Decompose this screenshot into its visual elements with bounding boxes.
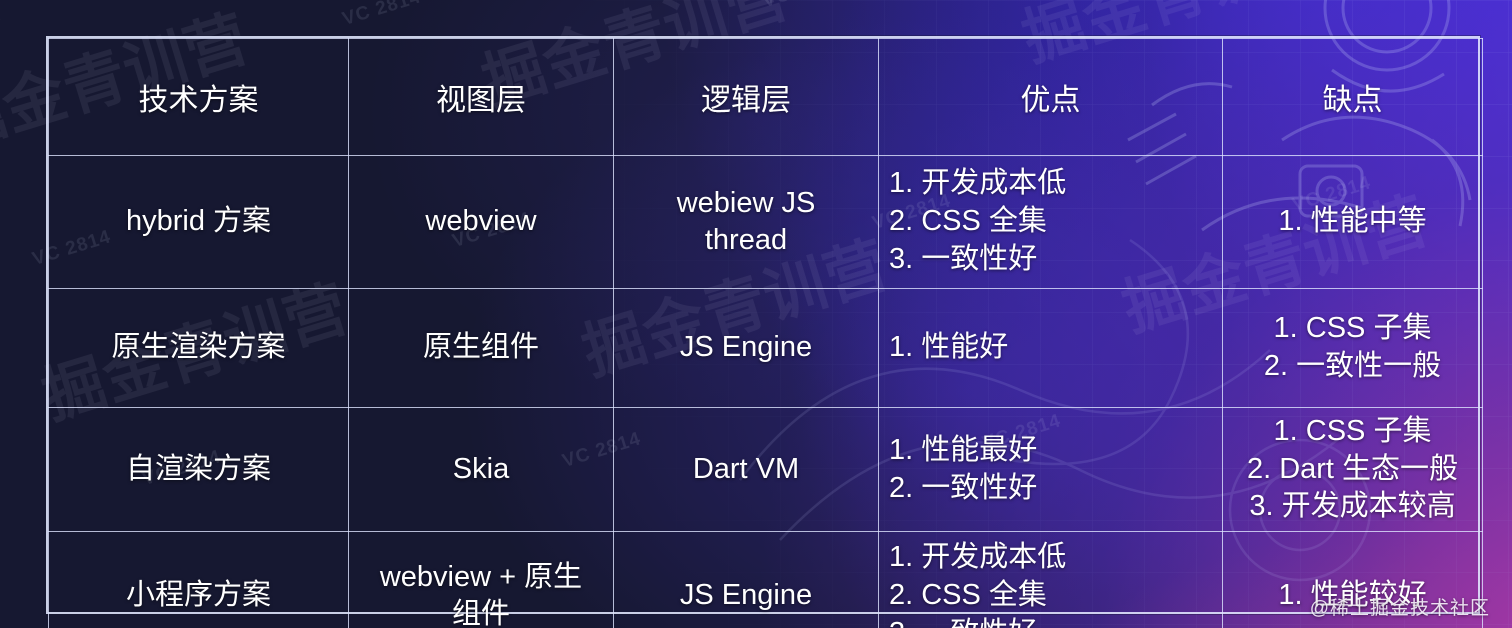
cons-item: 3. 开发成本较高 [1233, 488, 1472, 526]
cell-cons: 1. 性能中等 [1223, 156, 1483, 289]
cell-logic-layer: webiew JS thread [614, 156, 879, 289]
cell-line: 组件 [359, 596, 603, 628]
pros-item: 1. 开发成本低 [889, 165, 1212, 203]
cell-scheme: 自渲染方案 [49, 408, 349, 532]
cell-scheme: 原生渲染方案 [49, 289, 349, 408]
cons-item: 1. CSS 子集 [1233, 413, 1472, 451]
cons-item: 2. 一致性一般 [1233, 348, 1472, 386]
column-header-scheme: 技术方案 [49, 39, 349, 156]
cell-line: Dart VM [624, 451, 868, 488]
cell-line: JS Engine [624, 329, 868, 366]
table-row: 自渲染方案 Skia Dart VM 1. 性能最好 2. 一致性好 1. CS… [49, 408, 1483, 532]
cell-logic-layer: JS Engine [614, 289, 879, 408]
cell-pros: 1. 性能最好 2. 一致性好 [879, 408, 1223, 532]
column-header-logic-layer: 逻辑层 [614, 39, 879, 156]
cons-item: 1. 性能中等 [1233, 203, 1472, 241]
slide-canvas: VC 2814 VC 2814 VC 2814 VC 2814 VC 2814 … [0, 0, 1512, 628]
cell-line: JS Engine [624, 577, 868, 614]
pros-item: 2. CSS 全集 [889, 203, 1212, 241]
cell-logic-layer: JS Engine [614, 532, 879, 628]
cell-view-layer: webview [349, 156, 614, 289]
table-header-row: 技术方案 视图层 逻辑层 优点 缺点 [49, 39, 1483, 156]
column-header-view-layer: 视图层 [349, 39, 614, 156]
table-row: hybrid 方案 webview webiew JS thread 1. 开发… [49, 156, 1483, 289]
pros-item: 3. 一致性好 [889, 615, 1212, 628]
column-header-cons: 缺点 [1223, 39, 1483, 156]
cell-cons: 1. CSS 子集 2. 一致性一般 [1223, 289, 1483, 408]
pros-item: 1. 开发成本低 [889, 539, 1212, 577]
cell-view-layer: 原生组件 [349, 289, 614, 408]
cons-item: 1. CSS 子集 [1233, 310, 1472, 348]
cell-pros: 1. 开发成本低 2. CSS 全集 3. 一致性好 [879, 156, 1223, 289]
cell-logic-layer: Dart VM [614, 408, 879, 532]
table-row: 原生渲染方案 原生组件 JS Engine 1. 性能好 1. CSS 子集 2… [49, 289, 1483, 408]
cell-scheme: 小程序方案 [49, 532, 349, 628]
cell-view-layer: Skia [349, 408, 614, 532]
cell-scheme: hybrid 方案 [49, 156, 349, 289]
column-header-pros: 优点 [879, 39, 1223, 156]
cell-line: webview + 原生 [359, 559, 603, 596]
pros-item: 1. 性能好 [889, 329, 1212, 367]
pros-item: 2. CSS 全集 [889, 577, 1212, 615]
cell-pros: 1. 性能好 [879, 289, 1223, 408]
cell-line: webiew JS [624, 185, 868, 222]
cons-item: 2. Dart 生态一般 [1233, 451, 1472, 489]
cell-cons: 1. CSS 子集 2. Dart 生态一般 3. 开发成本较高 [1223, 408, 1483, 532]
pros-item: 2. 一致性好 [889, 470, 1212, 508]
cell-view-layer: webview + 原生 组件 [349, 532, 614, 628]
pros-item: 1. 性能最好 [889, 432, 1212, 470]
tech-comparison-matrix: 技术方案 视图层 逻辑层 优点 缺点 hybrid 方案 webview web… [48, 38, 1483, 628]
comparison-table: 技术方案 视图层 逻辑层 优点 缺点 hybrid 方案 webview web… [46, 36, 1480, 614]
cell-pros: 1. 开发成本低 2. CSS 全集 3. 一致性好 [879, 532, 1223, 628]
cell-line: thread [624, 222, 868, 259]
table-row: 小程序方案 webview + 原生 组件 JS Engine 1. 开发成本低… [49, 532, 1483, 628]
community-credit: @稀土掘金技术社区 [1310, 593, 1490, 620]
pros-item: 3. 一致性好 [889, 241, 1212, 279]
